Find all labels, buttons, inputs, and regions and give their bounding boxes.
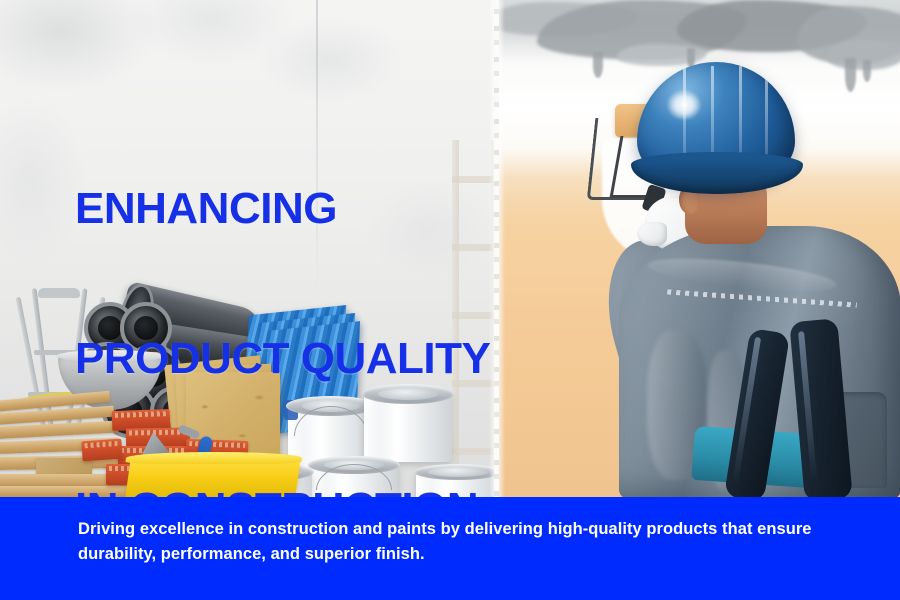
paint-drip: [593, 52, 603, 78]
banner: ENHANCING PRODUCT QUALITY IN CONSTRUCTIO…: [0, 0, 900, 600]
photo-torn-edge: [494, 0, 499, 497]
paint-drip: [863, 60, 871, 82]
painter-photo: [497, 0, 900, 497]
caption-bar: Driving excellence in construction and p…: [0, 497, 900, 600]
headline-line-1: ENHANCING: [75, 184, 490, 234]
glove-thumb: [637, 222, 667, 246]
paint-drip: [845, 58, 856, 92]
headline-line-2: PRODUCT QUALITY: [75, 334, 490, 384]
caption-text: Driving excellence in construction and p…: [78, 517, 868, 567]
